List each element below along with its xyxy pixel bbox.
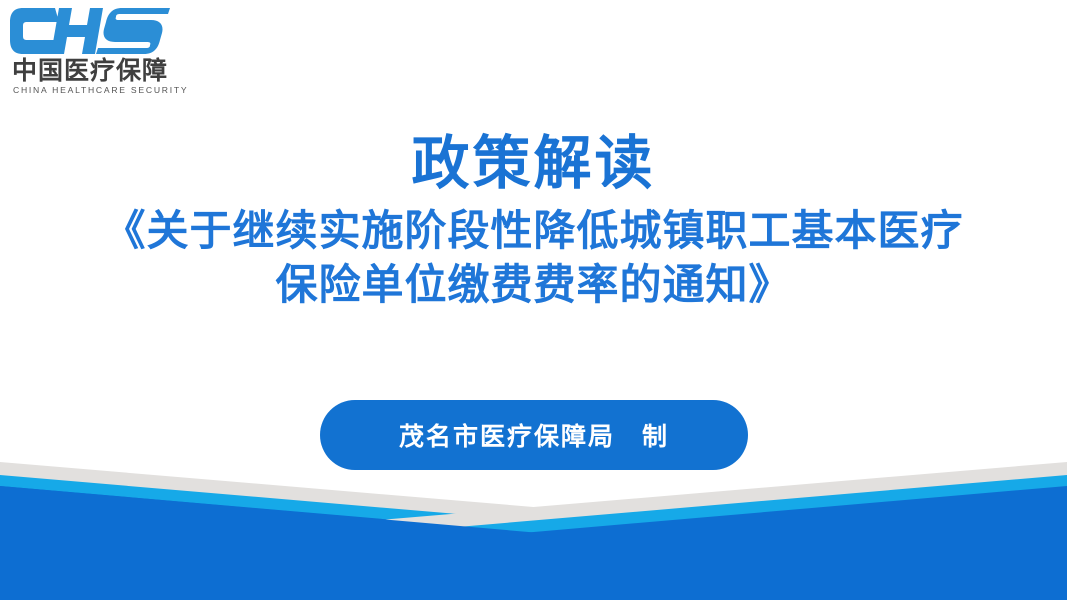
document-subtitle-line-1: 《关于继续实施阶段性降低城镇职工基本医疗 <box>0 204 1067 258</box>
decor-left-gray-band <box>0 462 1067 600</box>
title-area: 政策解读 《关于继续实施阶段性降低城镇职工基本医疗 保险单位缴费费率的通知》 <box>0 133 1067 311</box>
issuer-label: 茂名市医疗保障局 制 <box>399 417 669 453</box>
document-subtitle: 《关于继续实施阶段性降低城镇职工基本医疗 保险单位缴费费率的通知》 <box>0 204 1067 312</box>
decor-left-blue-band <box>0 486 1067 600</box>
logo-english-name: CHINA HEALTHCARE SECURITY <box>13 85 190 95</box>
chs-wordmark-icon <box>10 4 182 56</box>
page-title: 政策解读 <box>0 133 1067 194</box>
presentation-title-slide: 中国医疗保障 CHINA HEALTHCARE SECURITY 政策解读 《关… <box>0 0 1067 600</box>
decor-right-blue-band <box>0 486 1067 600</box>
decor-right-gray-band <box>0 462 1067 600</box>
document-subtitle-line-2: 保险单位缴费费率的通知》 <box>0 258 1067 312</box>
chs-logo: 中国医疗保障 CHINA HEALTHCARE SECURITY <box>10 4 190 95</box>
decor-right-cyan-band <box>0 475 1067 600</box>
issuer-badge: 茂名市医疗保障局 制 <box>320 400 748 470</box>
decor-left-blue-overlay <box>0 486 540 600</box>
decor-left-cyan-band <box>0 475 1067 600</box>
logo-chinese-name: 中国医疗保障 <box>12 57 190 84</box>
